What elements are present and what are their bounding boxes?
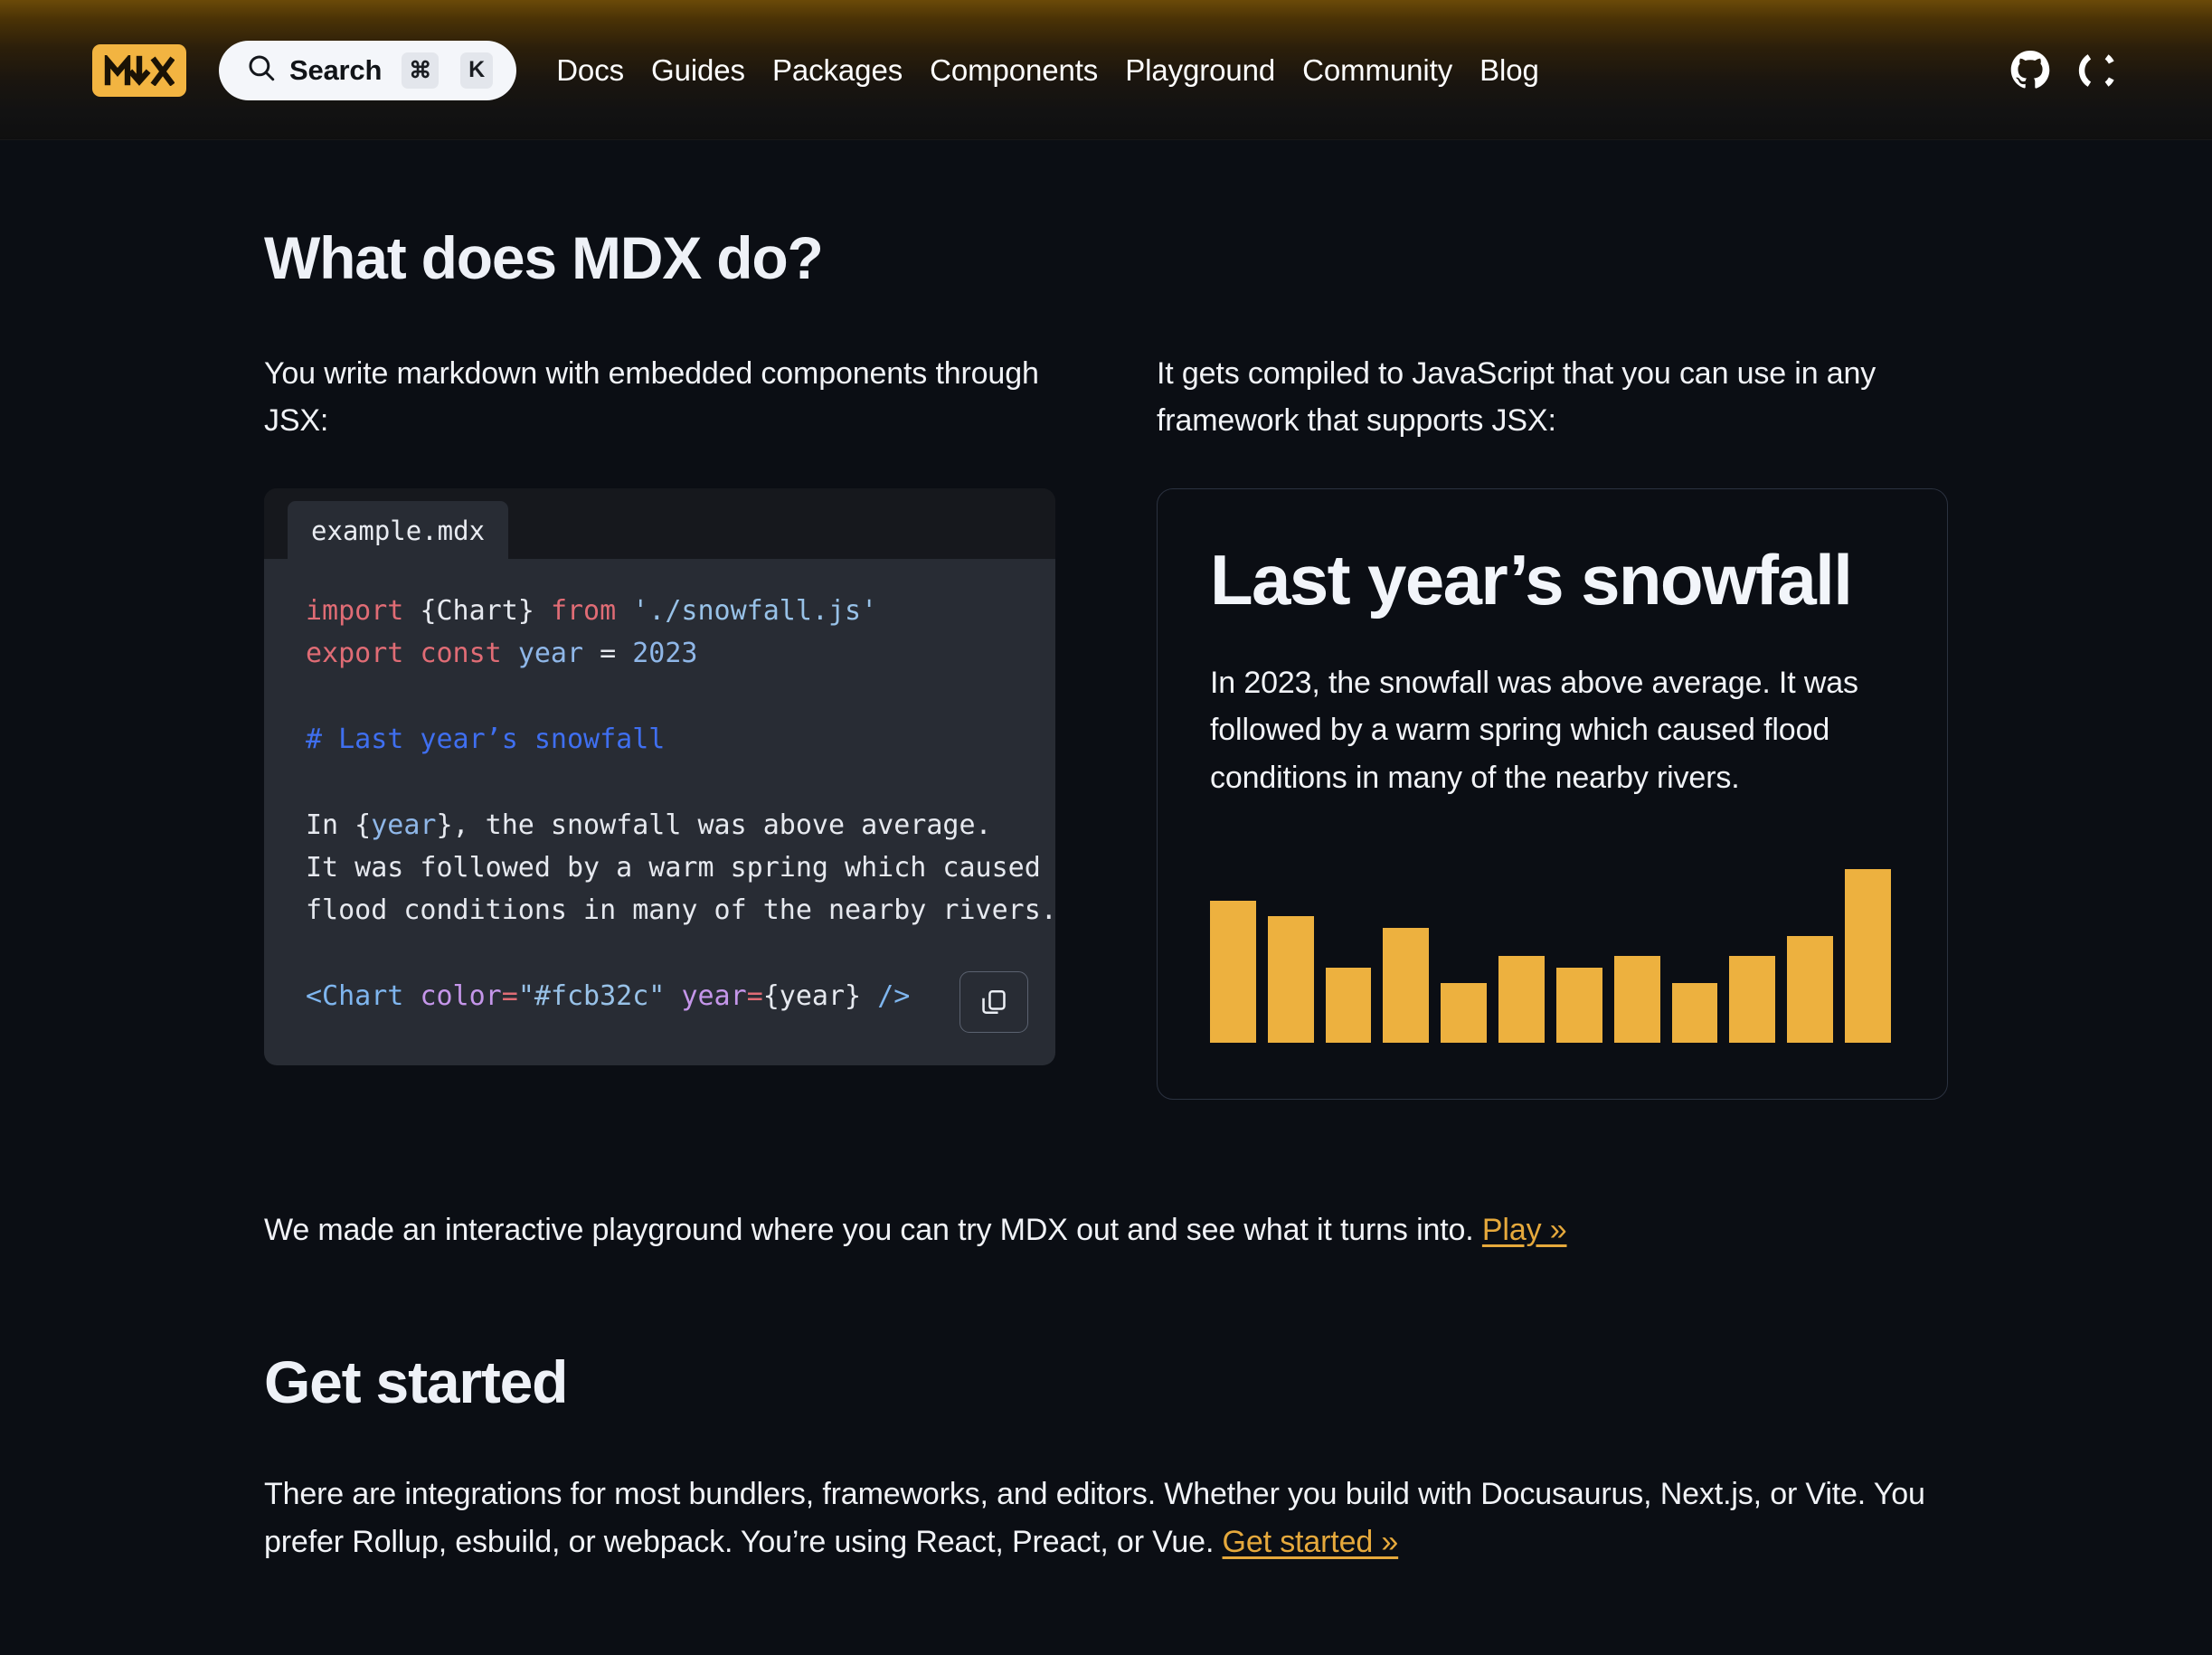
- preview-body: In 2023, the snowfall was above average.…: [1210, 659, 1891, 802]
- get-started-title: Get started: [264, 1348, 1948, 1416]
- site-header: Search ⌘ K Docs Guides Packages Componen…: [0, 0, 2212, 140]
- nav-item-components[interactable]: Components: [930, 53, 1098, 88]
- chart-bar: [1672, 983, 1718, 1042]
- chart-bar: [1556, 968, 1602, 1043]
- kbd-k: K: [460, 52, 493, 89]
- chart-bar: [1614, 956, 1660, 1043]
- chart-bar: [1210, 901, 1256, 1043]
- page-title: What does MDX do?: [264, 223, 1948, 292]
- column-output: It gets compiled to JavaScript that you …: [1157, 350, 1948, 1100]
- header-actions: [2009, 49, 2158, 92]
- search-icon: [246, 52, 277, 88]
- code-tabbar: example.mdx: [264, 488, 1055, 559]
- snowfall-bar-chart: [1210, 846, 1891, 1043]
- chart-bar: [1498, 956, 1545, 1043]
- nav-item-community[interactable]: Community: [1302, 53, 1452, 88]
- chart-bar: [1383, 928, 1429, 1042]
- chart-bar: [1787, 936, 1833, 1043]
- copy-code-button[interactable]: [959, 971, 1028, 1033]
- code-example-card: example.mdx import {Chart} from './snowf…: [264, 488, 1055, 1065]
- main-nav: Docs Guides Packages Components Playgrou…: [556, 53, 1539, 88]
- left-lede: You write markdown with embedded compone…: [264, 350, 1055, 445]
- right-lede: It gets compiled to JavaScript that you …: [1157, 350, 1948, 445]
- get-started-paragraph: There are integrations for most bundlers…: [264, 1471, 1948, 1565]
- rendered-output-card: Last year’s snowfall In 2023, the snowfa…: [1157, 488, 1948, 1100]
- playground-paragraph: We made an interactive playground where …: [264, 1206, 1948, 1254]
- column-source: You write markdown with embedded compone…: [264, 350, 1055, 1100]
- github-icon[interactable]: [2009, 50, 2051, 91]
- tab-example-mdx[interactable]: example.mdx: [288, 501, 508, 559]
- chart-bar: [1729, 956, 1775, 1043]
- nav-item-playground[interactable]: Playground: [1125, 53, 1275, 88]
- chart-bar: [1326, 968, 1372, 1043]
- open-collective-icon[interactable]: [2076, 49, 2120, 92]
- mdx-logo[interactable]: [92, 44, 186, 97]
- chart-bar: [1845, 869, 1891, 1043]
- search-label: Search: [289, 54, 382, 87]
- playground-text: We made an interactive playground where …: [264, 1213, 1482, 1247]
- get-started-link[interactable]: Get started »: [1223, 1525, 1399, 1559]
- get-started-text: There are integrations for most bundlers…: [264, 1477, 1925, 1559]
- chart-bar: [1441, 983, 1487, 1042]
- play-link[interactable]: Play »: [1482, 1213, 1567, 1247]
- preview-heading: Last year’s snowfall: [1210, 542, 1891, 619]
- search-button[interactable]: Search ⌘ K: [219, 41, 516, 100]
- nav-item-docs[interactable]: Docs: [556, 53, 624, 88]
- chart-bar: [1268, 916, 1314, 1043]
- two-column-layout: You write markdown with embedded compone…: [264, 350, 1948, 1100]
- main-content: What does MDX do? You write markdown wit…: [0, 223, 2212, 1566]
- nav-item-packages[interactable]: Packages: [772, 53, 903, 88]
- kbd-cmd: ⌘: [402, 52, 439, 89]
- nav-item-guides[interactable]: Guides: [651, 53, 745, 88]
- mdx-logo-icon: [104, 55, 175, 86]
- nav-item-blog[interactable]: Blog: [1479, 53, 1539, 88]
- copy-icon: [979, 987, 1008, 1017]
- code-block[interactable]: import {Chart} from './snowfall.js' expo…: [264, 559, 1055, 1065]
